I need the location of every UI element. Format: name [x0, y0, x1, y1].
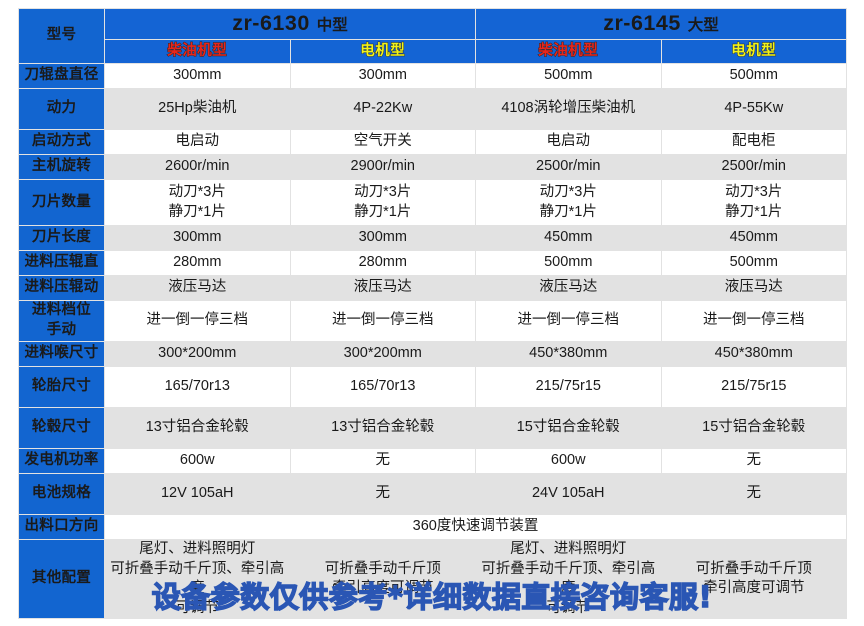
row-label: 轮胎尺寸: [19, 367, 105, 408]
table-cell: 电启动: [476, 130, 662, 155]
table-cell: 500mm: [476, 251, 662, 276]
table-cell: 进一倒一停三档: [105, 301, 291, 342]
row-label: 启动方式: [19, 130, 105, 155]
table-row: 进料压辊动 液压马达 液压马达 液压马达 液压马达: [19, 276, 847, 301]
table-cell: 配电柜: [661, 130, 847, 155]
row-label: 出料口方向: [19, 515, 105, 540]
row-label: 主机旋转: [19, 155, 105, 180]
table-cell: 空气开关: [290, 130, 476, 155]
table-cell: 600w: [476, 449, 662, 474]
table-cell: 液压马达: [105, 276, 291, 301]
table-cell: 4P-22Kw: [290, 89, 476, 130]
row-label: 电池规格: [19, 474, 105, 515]
table-cell: 12V 105aH: [105, 474, 291, 515]
table-cell: 动刀*3片 静刀*1片: [476, 180, 662, 226]
machine-spec-table: 型号 zr-6130中型 zr-6145大型 柴油机型 电机型: [18, 8, 847, 619]
table-cell: 15寸铝合金轮毂: [661, 408, 847, 449]
row-label: 进料压辊直: [19, 251, 105, 276]
table-row: 刀片数量 动刀*3片 静刀*1片 动刀*3片 静刀*1片 动刀*3片 静刀*1片: [19, 180, 847, 226]
subtype-zr6130-electric: 电机型: [290, 40, 476, 64]
table-cell: 300*200mm: [105, 342, 291, 367]
table-cell: 电启动: [105, 130, 291, 155]
table-row: 刀片长度 300mm 300mm 450mm 450mm: [19, 226, 847, 251]
table-cell: 500mm: [661, 251, 847, 276]
subtype-zr6145-electric: 电机型: [661, 40, 847, 64]
table-cell: 300mm: [105, 226, 291, 251]
table-row: 主机旋转 2600r/min 2900r/min 2500r/min 2500r…: [19, 155, 847, 180]
table-cell: 280mm: [105, 251, 291, 276]
table-row: 进料喉尺寸 300*200mm 300*200mm 450*380mm 450*…: [19, 342, 847, 367]
table-cell: 动刀*3片 静刀*1片: [105, 180, 291, 226]
table-cell: 500mm: [476, 64, 662, 89]
table-cell: 450*380mm: [661, 342, 847, 367]
table-row: 进料压辊直 280mm 280mm 500mm 500mm: [19, 251, 847, 276]
row-label: 刀辊盘直径: [19, 64, 105, 89]
table-row: 刀辊盘直径 300mm 300mm 500mm 500mm: [19, 64, 847, 89]
model-code-left: zr-6130: [232, 11, 310, 35]
table-cell: 25Hp柴油机: [105, 89, 291, 130]
table-cell: 13寸铝合金轮毂: [105, 408, 291, 449]
row-label: 进料档位 手动: [19, 301, 105, 342]
table-cell: 300*200mm: [290, 342, 476, 367]
table-cell: 450mm: [476, 226, 662, 251]
table-row: 动力 25Hp柴油机 4P-22Kw 4108涡轮增压柴油机 4P-55Kw: [19, 89, 847, 130]
table-cell: 液压马达: [290, 276, 476, 301]
header-subtype-row: 柴油机型 电机型 柴油机型 电机型: [19, 40, 847, 64]
table-cell: 300mm: [290, 64, 476, 89]
model-group-zr6145: zr-6145大型: [476, 9, 847, 40]
table-cell: 进一倒一停三档: [476, 301, 662, 342]
table-cell: 280mm: [290, 251, 476, 276]
table-cell: 进一倒一停三档: [661, 301, 847, 342]
subtype-label-electric-right: 电机型: [731, 43, 776, 59]
model-group-zr6130: zr-6130中型: [105, 9, 476, 40]
table-row: 发电机功率 600w 无 600w 无: [19, 449, 847, 474]
model-size-right: 大型: [688, 17, 719, 34]
table-cell: 进一倒一停三档: [290, 301, 476, 342]
subtype-label-diesel-left: 柴油机型: [167, 43, 227, 59]
table-cell: 165/70r13: [105, 367, 291, 408]
table-row: 轮胎尺寸 165/70r13 165/70r13 215/75r15 215/7…: [19, 367, 847, 408]
table-cell: 600w: [105, 449, 291, 474]
header-label-model: 型号: [19, 9, 105, 64]
row-label: 动力: [19, 89, 105, 130]
table-cell: 300mm: [105, 64, 291, 89]
table-cell: 无: [661, 474, 847, 515]
row-label: 发电机功率: [19, 449, 105, 474]
table-cell: 500mm: [661, 64, 847, 89]
model-size-left: 中型: [317, 17, 348, 34]
subtype-label-electric-left: 电机型: [360, 43, 405, 59]
spec-sheet-page: 型号 zr-6130中型 zr-6145大型 柴油机型 电机型: [0, 0, 864, 626]
table-cell: 450mm: [661, 226, 847, 251]
table-cell: 4108涡轮增压柴油机: [476, 89, 662, 130]
table-cell: 无: [661, 449, 847, 474]
row-label: 进料喉尺寸: [19, 342, 105, 367]
table-cell: 215/75r15: [661, 367, 847, 408]
table-cell: 液压马达: [476, 276, 662, 301]
row-label: 轮毂尺寸: [19, 408, 105, 449]
table-cell: 165/70r13: [290, 367, 476, 408]
table-cell: 4P-55Kw: [661, 89, 847, 130]
spec-table-container: 型号 zr-6130中型 zr-6145大型 柴油机型 电机型: [18, 8, 846, 619]
table-cell: 动刀*3片 静刀*1片: [661, 180, 847, 226]
table-cell: 2500r/min: [661, 155, 847, 180]
table-row: 进料档位 手动 进一倒一停三档 进一倒一停三档 进一倒一停三档 进一倒一停三档: [19, 301, 847, 342]
header-label-text: 型号: [19, 26, 104, 46]
table-cell: 450*380mm: [476, 342, 662, 367]
table-cell: 215/75r15: [476, 367, 662, 408]
table-cell: 动刀*3片 静刀*1片: [290, 180, 476, 226]
model-code-right: zr-6145: [603, 11, 681, 35]
spec-table-body: 型号 zr-6130中型 zr-6145大型 柴油机型 电机型: [19, 9, 847, 619]
table-row: 出料口方向 360度快速调节装置: [19, 515, 847, 540]
table-cell: 液压马达: [661, 276, 847, 301]
row-label: 刀片长度: [19, 226, 105, 251]
table-cell: 2500r/min: [476, 155, 662, 180]
subtype-label-diesel-right: 柴油机型: [538, 43, 598, 59]
table-cell: 2600r/min: [105, 155, 291, 180]
table-row: 电池规格 12V 105aH 无 24V 105aH 无: [19, 474, 847, 515]
subtype-zr6145-diesel: 柴油机型: [476, 40, 662, 64]
table-cell-merged: 360度快速调节装置: [105, 515, 847, 540]
header-model-row: 型号 zr-6130中型 zr-6145大型: [19, 9, 847, 40]
disclaimer-banner: 设备参数仅供参考*详细数据直接咨询客服!: [0, 574, 864, 616]
subtype-zr6130-diesel: 柴油机型: [105, 40, 291, 64]
table-cell: 13寸铝合金轮毂: [290, 408, 476, 449]
row-label: 刀片数量: [19, 180, 105, 226]
table-row: 启动方式 电启动 空气开关 电启动 配电柜: [19, 130, 847, 155]
table-cell: 无: [290, 449, 476, 474]
table-cell: 300mm: [290, 226, 476, 251]
table-cell: 2900r/min: [290, 155, 476, 180]
table-row: 轮毂尺寸 13寸铝合金轮毂 13寸铝合金轮毂 15寸铝合金轮毂 15寸铝合金轮毂: [19, 408, 847, 449]
table-cell: 15寸铝合金轮毂: [476, 408, 662, 449]
table-cell: 无: [290, 474, 476, 515]
table-cell: 24V 105aH: [476, 474, 662, 515]
row-label: 进料压辊动: [19, 276, 105, 301]
